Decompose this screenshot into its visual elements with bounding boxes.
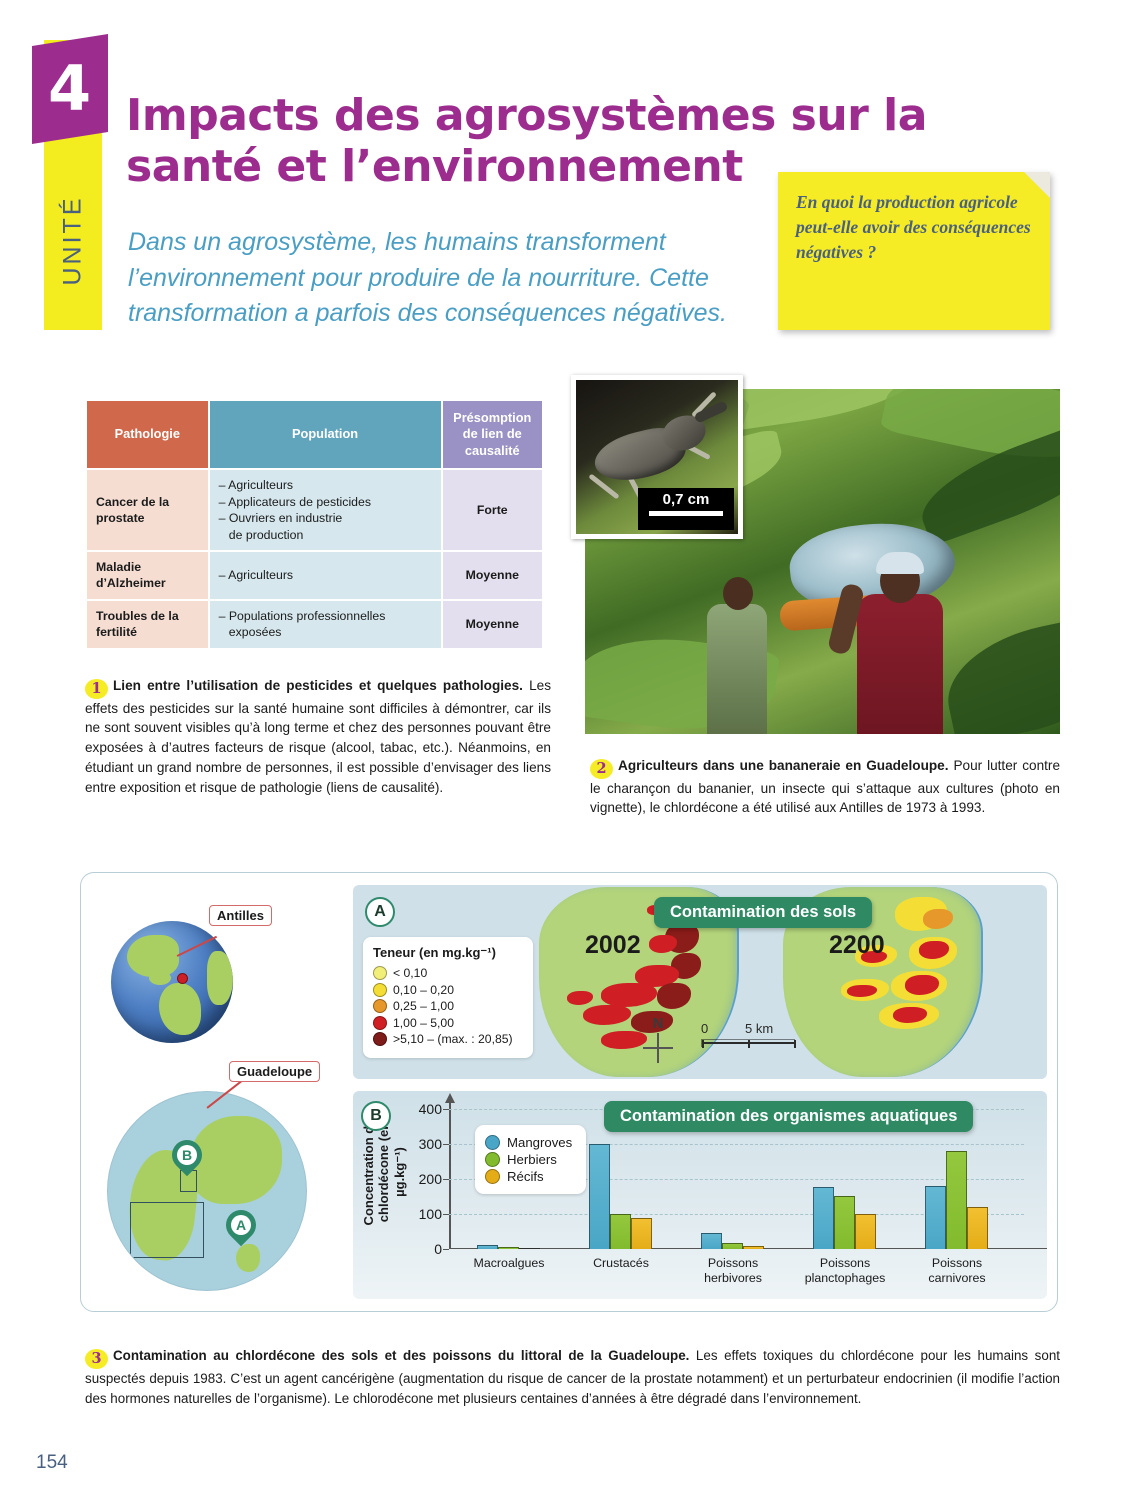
cell-presomption: Moyenne: [443, 601, 542, 648]
soil-contamination-map-panel: A Contamination des sols Teneur (en mg.k…: [353, 885, 1047, 1079]
legend-item: Récifs: [485, 1169, 572, 1184]
cell-pathologie: Maladie d’Alzheimer: [87, 552, 208, 599]
chart-bar-group: Crustacés: [589, 1144, 652, 1249]
chart-y-tick-label: 300: [419, 1136, 442, 1152]
unit-number-badge: 4: [32, 34, 108, 144]
caption-1-bold: Lien entre l’utilisation de pesticides e…: [113, 678, 523, 693]
chart-y-tickmark: [443, 1179, 449, 1180]
table-row: Maladie d’Alzheimer – Agriculteurs Moyen…: [87, 552, 542, 599]
worker-primary-body: [857, 594, 943, 734]
cell-population-text: – Populations professionnelles exposées: [219, 608, 432, 641]
unit-label-text: UNITÉ: [59, 195, 88, 285]
cell-population-text: – Agriculteurs: [219, 567, 432, 583]
legend-label: Récifs: [507, 1169, 544, 1184]
legend-label: >5,10 – (max. : 20,85): [393, 1032, 513, 1046]
intro-paragraph: Dans un agrosystème, les humains transfo…: [128, 225, 738, 332]
table-row: Troubles de la fertilité – Populations p…: [87, 601, 542, 648]
column-header-pathologie: Pathologie: [87, 401, 208, 468]
legend-item: 1,00 – 5,00: [373, 1016, 524, 1030]
landmass-central-america: [149, 971, 171, 985]
scale-bar-overlay: 0,7 cm: [638, 488, 734, 530]
chart-bar: [967, 1207, 988, 1249]
chart-bar: [925, 1186, 946, 1249]
cell-pathologie: Cancer de la prostate: [87, 470, 208, 550]
chart-bar: [589, 1144, 610, 1249]
guiding-question-box: En quoi la production agricole peut-elle…: [778, 172, 1050, 330]
antilles-marker: [177, 973, 188, 984]
page-number: 154: [36, 1452, 68, 1474]
scale-bar-graphic: [701, 1039, 795, 1047]
chart-bar: [498, 1247, 519, 1249]
map-year-label: 2002: [585, 931, 641, 960]
chart-y-tickmark: [443, 1109, 449, 1110]
cell-presomption: Moyenne: [443, 552, 542, 599]
chart-y-tick-label: 100: [419, 1206, 442, 1222]
chart-bar-group: Macroalgues: [477, 1245, 540, 1249]
panel-letter-a: A: [365, 897, 395, 927]
label-antilles: Antilles: [209, 905, 272, 926]
chart-y-tick-label: 0: [434, 1241, 442, 1257]
pathologies-table: Pathologie Population Présomption de lie…: [85, 399, 544, 650]
legend-swatch: [373, 983, 387, 997]
legend-label: < 0,10: [393, 966, 427, 980]
caption-1: 1Lien entre l’utilisation de pesticides …: [85, 676, 551, 798]
weevil-snout: [693, 400, 728, 423]
figure-panel: Antilles B A Guadeloupe A Contamination …: [80, 872, 1058, 1312]
legend-label: 0,10 – 0,20: [393, 983, 454, 997]
cell-pathologie: Troubles de la fertilité: [87, 601, 208, 648]
chart-x-tick-label: Poissons planctophages: [805, 1256, 886, 1286]
legend-swatch: [373, 1032, 387, 1046]
chart-title: Contamination des organismes aquatiques: [604, 1101, 973, 1132]
chart-y-tickmark: [443, 1214, 449, 1215]
chart-bar: [701, 1233, 722, 1249]
worker-secondary-head: [723, 577, 753, 610]
chart-bar-group: Poissons planctophages: [813, 1187, 876, 1249]
legend-item: < 0,10: [373, 966, 524, 980]
chart-bar: [855, 1214, 876, 1249]
chart-bar: [946, 1151, 967, 1249]
label-guadeloupe: Guadeloupe: [229, 1061, 320, 1082]
chart-y-tick-label: 400: [419, 1101, 442, 1117]
chart-x-tick-label: Poissons herbivores: [704, 1256, 762, 1286]
chart-x-tick-label: Crustacés: [593, 1256, 649, 1271]
map-pin-a-label: A: [231, 1215, 251, 1235]
legend-swatch: [485, 1169, 500, 1184]
chart-bar: [477, 1245, 498, 1249]
cell-population: – Agriculteurs – Applicateurs de pestici…: [210, 470, 441, 550]
column-header-presomption: Présomption de lien de causalité: [443, 401, 542, 468]
table-row: Cancer de la prostate – Agriculteurs – A…: [87, 470, 542, 550]
chart-y-tickmark: [443, 1144, 449, 1145]
caption-1-text: Les effets des pesticides sur la santé h…: [85, 678, 551, 795]
caption-2-bold: Agriculteurs dans une bananeraie en Guad…: [618, 758, 949, 773]
map-pin-a: A: [220, 1204, 262, 1246]
legend-swatch: [485, 1135, 500, 1150]
caption-2: 2Agriculteurs dans une bananeraie en Gua…: [590, 756, 1060, 819]
cell-population: – Populations professionnelles exposées: [210, 601, 441, 648]
island-grande-terre: [190, 1116, 282, 1204]
map-pin-b-label: B: [177, 1145, 197, 1165]
cell-population: – Agriculteurs: [210, 552, 441, 599]
island-marie-galante: [236, 1244, 260, 1272]
map-legend-title: Teneur (en mg.kg⁻¹): [373, 945, 524, 961]
soil-contamination-title: Contamination des sols: [654, 897, 872, 928]
guiding-question-text: En quoi la production agricole peut-elle…: [778, 172, 1050, 265]
legend-swatch: [373, 966, 387, 980]
locator-column: Antilles B A Guadeloupe: [89, 883, 349, 1301]
unit-label-vertical: UNITÉ: [44, 150, 102, 330]
chart-bar: [610, 1214, 631, 1249]
table-header-row: Pathologie Population Présomption de lie…: [87, 401, 542, 468]
panel-letter-b: B: [361, 1101, 391, 1131]
landmass-north-america: [127, 935, 179, 977]
leaf-shape: [937, 611, 1060, 734]
chart-y-tick-label: 200: [419, 1171, 442, 1187]
compass-star: [643, 1033, 673, 1063]
scale-max-label: 5 km: [745, 1021, 773, 1036]
legend-item: >5,10 – (max. : 20,85): [373, 1032, 524, 1046]
legend-swatch: [373, 999, 387, 1013]
chart-bar-group: Poissons herbivores: [701, 1233, 764, 1249]
zone-box-a: [130, 1202, 204, 1258]
column-header-population: Population: [210, 401, 441, 468]
guadeloupe-map: B A: [107, 1091, 307, 1291]
scale-numbers: 0 5 km: [701, 1021, 809, 1037]
chart-bar: [519, 1248, 540, 1249]
legend-item: Herbiers: [485, 1152, 572, 1167]
legend-item: 0,10 – 0,20: [373, 983, 524, 997]
chart-bar: [743, 1246, 764, 1249]
legend-item: 0,25 – 1,00: [373, 999, 524, 1013]
unit-number: 4: [48, 58, 91, 120]
caption-3-number: 3: [85, 1349, 108, 1369]
caption-3: 3Contamination au chlordécone des sols e…: [85, 1346, 1060, 1408]
chart-y-tickmark: [443, 1249, 449, 1250]
chart-y-axis-arrow: [445, 1093, 455, 1103]
legend-swatch: [373, 1016, 387, 1030]
legend-label: Mangroves: [507, 1135, 572, 1150]
caption-2-number: 2: [590, 759, 613, 779]
chart-bar: [813, 1187, 834, 1249]
compass-rose: N: [643, 1015, 673, 1063]
aquatic-contamination-chart-panel: B Contamination des organismes aquatique…: [353, 1091, 1047, 1299]
scale-bar-label: 0,7 cm: [663, 491, 710, 508]
scale-zero-label: 0: [701, 1021, 708, 1036]
legend-item: Mangroves: [485, 1135, 572, 1150]
scale-bar-line: [649, 511, 723, 516]
weevil-image: 0,7 cm: [576, 380, 738, 534]
chart-x-tick-label: Poissons carnivores: [928, 1256, 985, 1286]
globe-map: [111, 921, 233, 1043]
chart-bar: [722, 1243, 743, 1249]
chart-legend: Mangroves Herbiers Récifs: [475, 1125, 586, 1194]
chart-y-axis-line: [449, 1101, 451, 1249]
legend-swatch: [485, 1152, 500, 1167]
caption-1-number: 1: [85, 679, 108, 699]
legend-label: 1,00 – 5,00: [393, 1016, 454, 1030]
map-legend: Teneur (en mg.kg⁻¹) < 0,10 0,10 – 0,20 0…: [363, 937, 533, 1058]
worker-secondary: [707, 604, 767, 734]
landmass-south-america: [159, 983, 201, 1035]
weevil-inset-photo: 0,7 cm: [571, 375, 743, 539]
legend-label: Herbiers: [507, 1152, 557, 1167]
compass-north-label: N: [643, 1015, 673, 1032]
landmass-africa: [207, 951, 233, 1005]
legend-label: 0,25 – 1,00: [393, 999, 454, 1013]
map-scale-bar: 0 5 km: [701, 1021, 809, 1047]
cell-population-text: – Agriculteurs – Applicateurs de pestici…: [219, 477, 432, 543]
chart-bar-group: Poissons carnivores: [925, 1151, 988, 1249]
map-year-label: 2200: [829, 931, 885, 960]
caption-3-bold: Contamination au chlordécone des sols et…: [113, 1348, 689, 1363]
chart-x-tick-label: Macroalgues: [474, 1256, 545, 1271]
chart-bar: [834, 1196, 855, 1249]
chart-bar: [631, 1218, 652, 1249]
worker-primary-cap: [876, 552, 924, 574]
cell-presomption: Forte: [443, 470, 542, 550]
